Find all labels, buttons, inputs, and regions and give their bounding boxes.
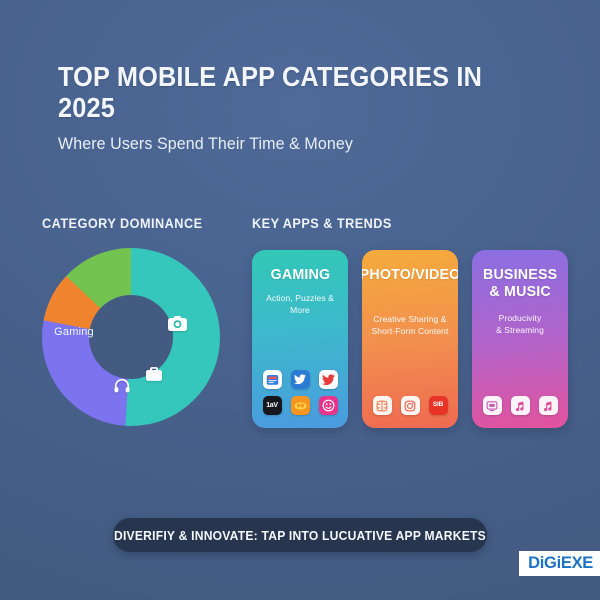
app-icon-orange-game[interactable] (291, 396, 310, 415)
donut-slice-label-gaming: Gaming (44, 326, 104, 338)
card-subtitle: Producivity& Streaming (496, 312, 544, 336)
category-card-gaming[interactable]: GAMING Action, Puzzles & More (252, 250, 348, 428)
cta-banner[interactable]: DIVERIFIY & INNOVATE: TAP INTO LUCUATIVE… (113, 518, 487, 552)
donut-chart: Gaming (42, 248, 220, 426)
card-title: GAMING (270, 266, 330, 283)
app-icon-calendar[interactable] (263, 370, 282, 389)
app-icon-grid: 1aV (252, 370, 348, 415)
app-icon-1av[interactable]: 1aV (263, 396, 282, 415)
infographic-canvas: TOP MOBILE APP CATEGORIES IN 2025 Where … (0, 0, 600, 600)
app-icon-red-bird[interactable] (319, 370, 338, 389)
header-block: TOP MOBILE APP CATEGORIES IN 2025 Where … (58, 62, 558, 154)
brand-logo-text: DiGiEXE (528, 555, 593, 572)
category-card-list: GAMING Action, Puzzles & More (252, 250, 568, 428)
section-heading-key-apps-trends: KEY APPS & TRENDS (252, 216, 392, 231)
app-icon-music-1[interactable] (511, 396, 530, 415)
app-icon-pink-smiley[interactable] (319, 396, 338, 415)
card-title: PHOTO/VIDEO (362, 266, 458, 283)
app-icon-instagram[interactable] (401, 396, 420, 415)
app-icon-grid: SIB (362, 396, 458, 415)
section-heading-category-dominance: CATEGORY DOMINANCE (42, 216, 203, 231)
app-icon-sib[interactable]: SIB (429, 396, 448, 415)
category-card-business-music[interactable]: BUSINESS& MUSIC Producivity& Streaming (472, 250, 568, 428)
cta-banner-text: DIVERIFIY & INNOVATE: TAP INTO LUCUATIVE… (114, 528, 486, 543)
brand-logo: DiGiEXE (519, 551, 600, 576)
app-icon-grid (472, 396, 568, 415)
app-icon-music-2[interactable] (539, 396, 558, 415)
app-icon-display[interactable] (483, 396, 502, 415)
card-title: BUSINESS& MUSIC (483, 266, 557, 300)
app-icon-twitter[interactable] (291, 370, 310, 389)
page-subtitle: Where Users Spend Their Time & Money (58, 135, 543, 154)
card-subtitle: Action, Puzzles & More (260, 292, 340, 316)
app-icon-film[interactable] (373, 396, 392, 415)
category-card-photovideo[interactable]: PHOTO/VIDEO Creative Sharing &Short-Form… (362, 250, 458, 428)
card-subtitle: Creative Sharing &Short-Form Content (372, 313, 449, 337)
page-title: TOP MOBILE APP CATEGORIES IN 2025 (58, 62, 518, 124)
